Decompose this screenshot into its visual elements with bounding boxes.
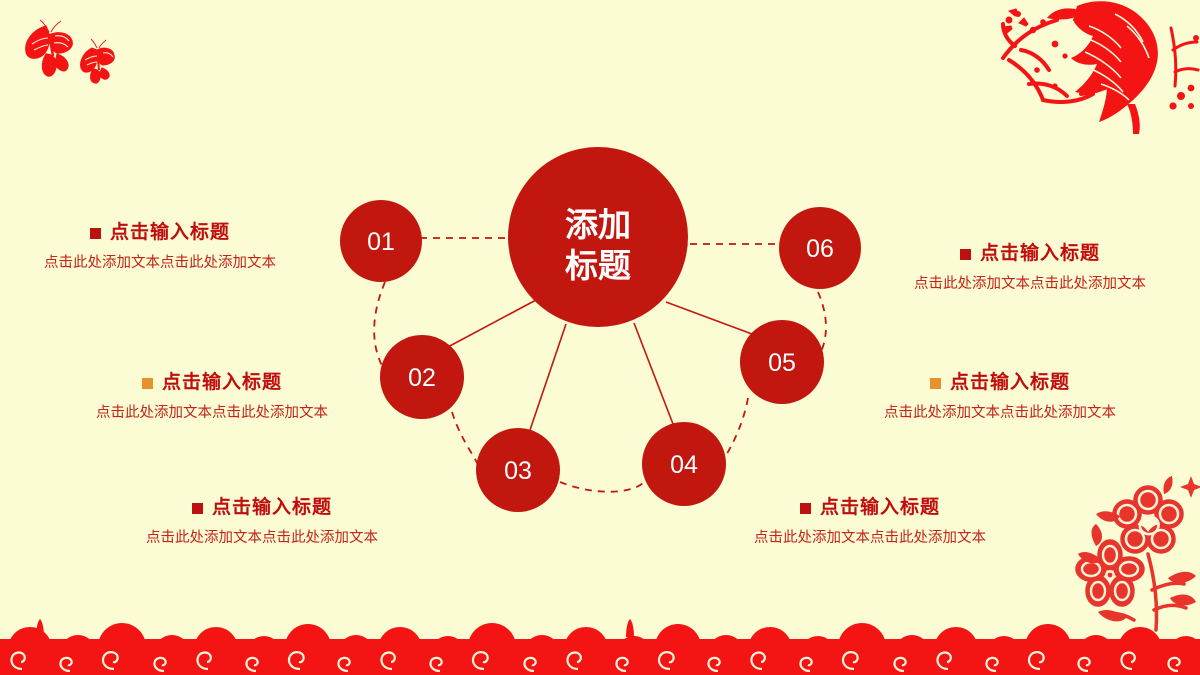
bullet-square-icon <box>800 503 811 514</box>
center-hub-node[interactable]: 添加 标题 <box>508 147 688 327</box>
label-05-title: 点击输入标题 <box>950 372 1070 395</box>
label-06-title: 点击输入标题 <box>980 243 1100 266</box>
node-02[interactable]: 02 <box>380 335 464 419</box>
node-01-label: 01 <box>367 228 395 256</box>
label-01-title-row: 点击输入标题 <box>0 222 330 245</box>
label-05-body: 点击此处添加文本点击此处添加文本 <box>830 404 1170 423</box>
node-04[interactable]: 04 <box>642 422 726 506</box>
label-05-title-row: 点击输入标题 <box>830 372 1170 395</box>
label-02-title: 点击输入标题 <box>162 372 282 395</box>
label-04-title: 点击输入标题 <box>820 497 940 520</box>
label-04-body: 点击此处添加文本点击此处添加文本 <box>700 529 1040 548</box>
label-block-01[interactable]: 点击输入标题 点击此处添加文本点击此处添加文本 <box>0 222 330 273</box>
node-05-label: 05 <box>768 349 796 377</box>
label-06-body: 点击此处添加文本点击此处添加文本 <box>860 275 1200 294</box>
node-03-label: 03 <box>504 457 532 485</box>
label-04-title-row: 点击输入标题 <box>700 497 1040 520</box>
label-02-title-row: 点击输入标题 <box>42 372 382 395</box>
bullet-square-icon <box>90 228 101 239</box>
label-06-title-row: 点击输入标题 <box>860 243 1200 266</box>
hub-and-spoke-diagram: 添加 标题 01 02 03 04 05 06 <box>0 0 1200 675</box>
node-03[interactable]: 03 <box>476 428 560 512</box>
bullet-square-icon <box>192 503 203 514</box>
label-03-body: 点击此处添加文本点击此处添加文本 <box>92 529 432 548</box>
label-block-03[interactable]: 点击输入标题 点击此处添加文本点击此处添加文本 <box>92 497 432 548</box>
node-02-label: 02 <box>408 364 436 392</box>
center-hub-line2: 标题 <box>565 247 631 284</box>
label-01-title: 点击输入标题 <box>110 222 230 245</box>
label-03-title-row: 点击输入标题 <box>92 497 432 520</box>
slide-canvas: 添加 标题 01 02 03 04 05 06 <box>0 0 1200 675</box>
label-block-06[interactable]: 点击输入标题 点击此处添加文本点击此处添加文本 <box>860 243 1200 294</box>
label-block-05[interactable]: 点击输入标题 点击此处添加文本点击此处添加文本 <box>830 372 1170 423</box>
bullet-square-icon <box>142 378 153 389</box>
node-05[interactable]: 05 <box>740 320 824 404</box>
node-01[interactable]: 01 <box>340 200 422 282</box>
bullet-square-icon <box>960 249 971 260</box>
label-01-body: 点击此处添加文本点击此处添加文本 <box>0 254 330 273</box>
label-02-body: 点击此处添加文本点击此处添加文本 <box>42 404 382 423</box>
node-06[interactable]: 06 <box>779 207 861 289</box>
label-block-04[interactable]: 点击输入标题 点击此处添加文本点击此处添加文本 <box>700 497 1040 548</box>
label-03-title: 点击输入标题 <box>212 497 332 520</box>
center-hub-line1: 添加 <box>565 206 631 243</box>
node-04-label: 04 <box>670 451 698 479</box>
node-06-label: 06 <box>806 235 834 263</box>
label-block-02[interactable]: 点击输入标题 点击此处添加文本点击此处添加文本 <box>42 372 382 423</box>
bullet-square-icon <box>930 378 941 389</box>
